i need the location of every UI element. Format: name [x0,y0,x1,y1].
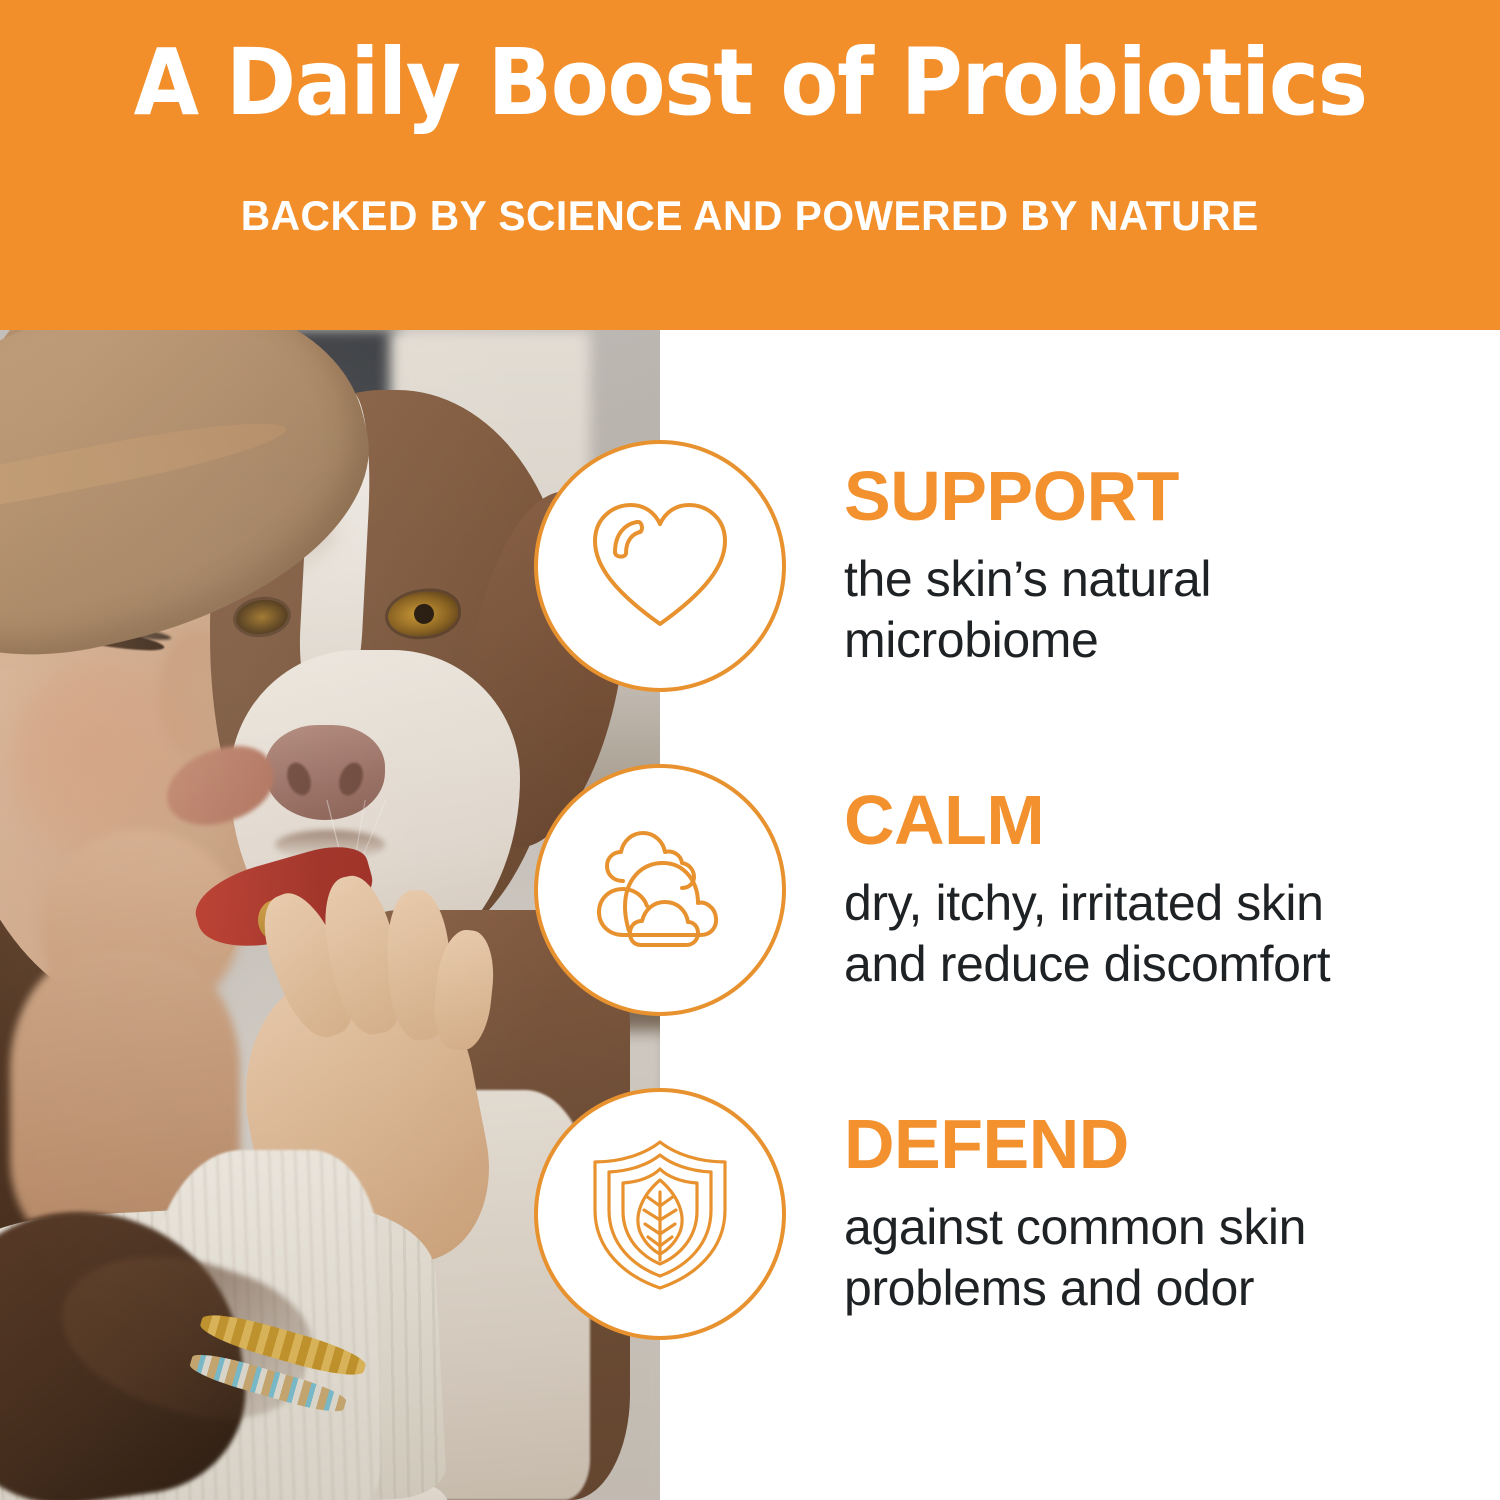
benefit-text-block: CALM dry, itchy, irritated skin and redu… [844,785,1330,995]
benefit-description: the skin’s natural microbiome [844,549,1211,671]
benefit-text-block: DEFEND against common skin problems and … [844,1109,1306,1319]
heart-icon [585,496,735,636]
benefit-icon-badge [534,1088,786,1340]
benefit-item-calm: CALM dry, itchy, irritated skin and redu… [520,750,1500,1030]
benefit-description-line: microbiome [844,610,1211,671]
benefit-title: DEFEND [844,1109,1306,1179]
benefit-item-support: SUPPORT the skin’s natural microbiome [520,426,1500,706]
benefit-description: against common skin problems and odor [844,1197,1306,1319]
benefit-description-line: and reduce discomfort [844,934,1330,995]
benefits-list: SUPPORT the skin’s natural microbiome [520,330,1500,1500]
photo-dog-nose [265,725,385,820]
benefit-title: CALM [844,785,1330,855]
page-subtitle: BACKED BY SCIENCE AND POWERED BY NATURE [241,192,1259,240]
benefit-title: SUPPORT [844,461,1211,531]
benefit-icon-badge [534,440,786,692]
content-area: SUPPORT the skin’s natural microbiome [0,330,1500,1500]
shield-leaf-icon [585,1136,735,1292]
clouds-icon [585,823,735,957]
benefit-icon-badge [534,764,786,1016]
benefit-description-line: problems and odor [844,1258,1306,1319]
benefit-text-block: SUPPORT the skin’s natural microbiome [844,461,1211,671]
benefit-description-line: dry, itchy, irritated skin [844,873,1330,934]
page-title: A Daily Boost of Probiotics [133,36,1366,130]
benefit-description-line: against common skin [844,1197,1306,1258]
benefit-item-defend: DEFEND against common skin problems and … [520,1074,1500,1354]
benefit-description-line: the skin’s natural [844,549,1211,610]
benefit-description: dry, itchy, irritated skin and reduce di… [844,873,1330,995]
header-banner: A Daily Boost of Probiotics BACKED BY SC… [0,0,1500,330]
